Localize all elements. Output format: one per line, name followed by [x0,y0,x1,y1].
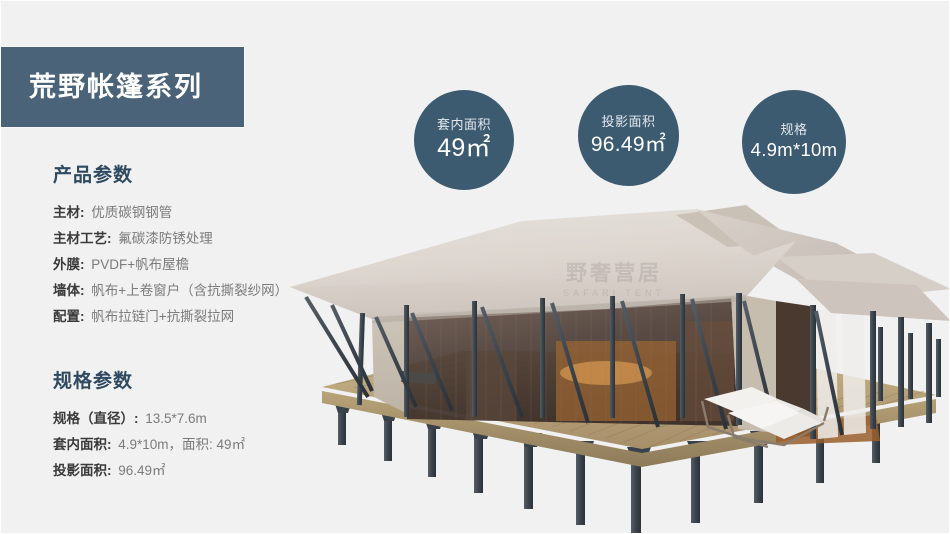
spec-value: 4.9*10m，面积: 49㎡ [115,437,245,452]
spec-label: 主材工艺: [53,231,112,246]
metric-value: 49㎡ [437,135,491,163]
spec-label: 规格（直径）: [53,411,139,426]
spec-value: PVDF+帆布屋檐 [88,257,189,272]
metric-badge-interior-area: 套内面积 49㎡ [414,90,514,190]
metric-badge-dimensions: 规格 4.9m*10m [742,90,846,194]
tent-render-svg [276,201,950,534]
metric-value: 96.49㎡ [591,133,666,156]
spec-value: 96.49㎡ [115,463,165,478]
spec-label: 主材: [53,205,85,220]
title-banner: 荒野帐篷系列 [1,47,244,127]
spec-value: 帆布拉链门+抗撕裂拉网 [88,309,234,324]
tent-render-image: 野奢营居 SAFARI TENT [276,201,950,534]
metric-label: 投影面积 [601,115,655,129]
spec-value: 帆布+上卷窗户（含抗撕裂纱网） [88,283,288,298]
metric-value: 4.9m*10m [751,140,838,160]
spec-label: 套内面积: [53,437,112,452]
spec-value: 优质碳钢钢管 [88,205,172,220]
spec-value: 氟碳漆防锈处理 [115,231,213,246]
spec-label: 投影面积: [53,463,112,478]
spec-label: 外膜: [53,257,85,272]
metric-label: 规格 [780,123,807,137]
spec-label: 墙体: [53,283,85,298]
product-params-heading: 产品参数 [53,166,353,187]
spec-label: 配置: [53,309,85,324]
metric-label: 套内面积 [437,118,491,132]
spec-value: 13.5*7.6m [142,411,207,426]
product-spec-page: 荒野帐篷系列 产品参数 主材: 优质碳钢钢管 主材工艺: 氟碳漆防锈处理 外膜:… [0,0,950,534]
page-title: 荒野帐篷系列 [1,74,203,101]
metric-badge-projected-area: 投影面积 96.49㎡ [578,85,679,186]
